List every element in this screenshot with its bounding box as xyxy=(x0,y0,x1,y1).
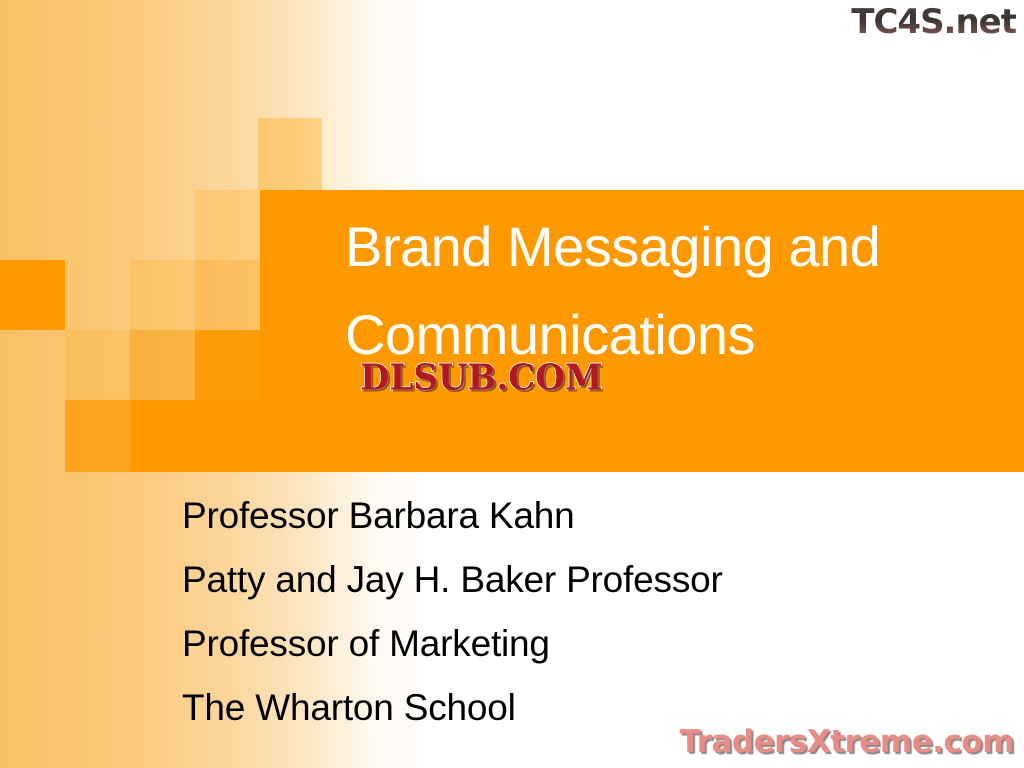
decorative-square-h xyxy=(65,400,130,472)
watermark-tradersxtreme: TradersXtreme.com xyxy=(679,724,1014,760)
decorative-square-top xyxy=(258,118,322,190)
slide-subtitle: Professor Barbara Kahn Patty and Jay H. … xyxy=(182,484,962,740)
decorative-square-f xyxy=(130,330,195,400)
decorative-square-e xyxy=(65,330,130,400)
slide-title: Brand Messaging and Communications xyxy=(345,203,1005,379)
subtitle-line-department: Professor of Marketing xyxy=(182,612,962,676)
subtitle-line-presenter-name: Professor Barbara Kahn xyxy=(182,484,962,548)
decorative-square-c xyxy=(130,260,195,330)
watermark-dlsub: DLSUB.COM xyxy=(360,357,602,399)
decorative-square-d xyxy=(195,260,260,330)
decorative-square-b xyxy=(0,260,65,330)
decorative-square-g xyxy=(195,330,260,400)
subtitle-line-chair-title: Patty and Jay H. Baker Professor xyxy=(182,548,962,612)
watermark-tc4s: TC4S.net xyxy=(851,2,1016,42)
presentation-slide: Brand Messaging and Communications Profe… xyxy=(0,0,1024,768)
decorative-square-i xyxy=(130,400,260,472)
